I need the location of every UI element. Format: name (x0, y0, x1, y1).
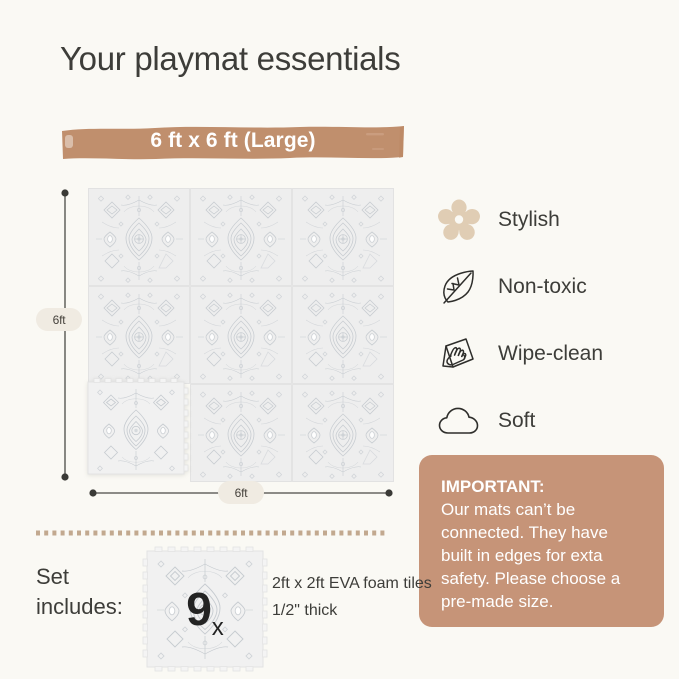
feature-label-stylish: Stylish (498, 208, 560, 232)
size-banner-label: 6 ft x 6 ft (Large) (60, 121, 406, 163)
page-title: Your playmat essentials (60, 40, 400, 78)
leaf-icon (434, 262, 484, 312)
feature-label-wipe-clean: Wipe-clean (498, 342, 603, 366)
set-includes-spec: 2ft x 2ft EVA foam tiles 1/2" thick (272, 570, 432, 624)
section-divider-svg (36, 530, 386, 536)
callout-heading: IMPORTANT: (441, 475, 642, 498)
width-label: 6ft (235, 486, 248, 500)
flower-icon (434, 195, 484, 245)
feature-item-soft: Soft (434, 387, 664, 454)
size-banner: 6 ft x 6 ft (Large) (60, 121, 406, 163)
feature-item-wipe-clean: Wipe-clean (434, 320, 664, 387)
feature-list: Stylish Non-toxic (434, 186, 664, 454)
set-count-number: 9 (186, 586, 211, 632)
infographic-page: Your playmat essentials 6 ft x 6 ft (Lar… (0, 0, 679, 679)
important-callout: IMPORTANT: Our mats can’t be connected. … (419, 455, 664, 627)
playmat-diagram (88, 188, 394, 482)
set-includes-label: Set includes: (36, 562, 146, 622)
feature-item-stylish: Stylish (434, 186, 664, 253)
height-label: 6ft (53, 313, 66, 327)
detached-tile-svg (86, 378, 190, 478)
wipe-hand-icon (434, 329, 484, 379)
callout-body: Our mats can’t be connected. They have b… (441, 498, 642, 613)
feature-item-non-toxic: Non-toxic (434, 253, 664, 320)
height-measure-line (58, 188, 72, 482)
section-divider (36, 530, 386, 536)
height-label-pill: 6ft (36, 308, 82, 331)
feature-label-soft: Soft (498, 409, 535, 433)
cloud-icon (434, 396, 484, 446)
set-count-multiplier: x (212, 616, 224, 640)
feature-label-non-toxic: Non-toxic (498, 275, 587, 299)
set-includes-count: 9 x (142, 546, 268, 672)
height-measure-svg (58, 188, 72, 482)
width-label-pill: 6ft (218, 481, 264, 504)
detached-tile[interactable] (86, 378, 190, 478)
